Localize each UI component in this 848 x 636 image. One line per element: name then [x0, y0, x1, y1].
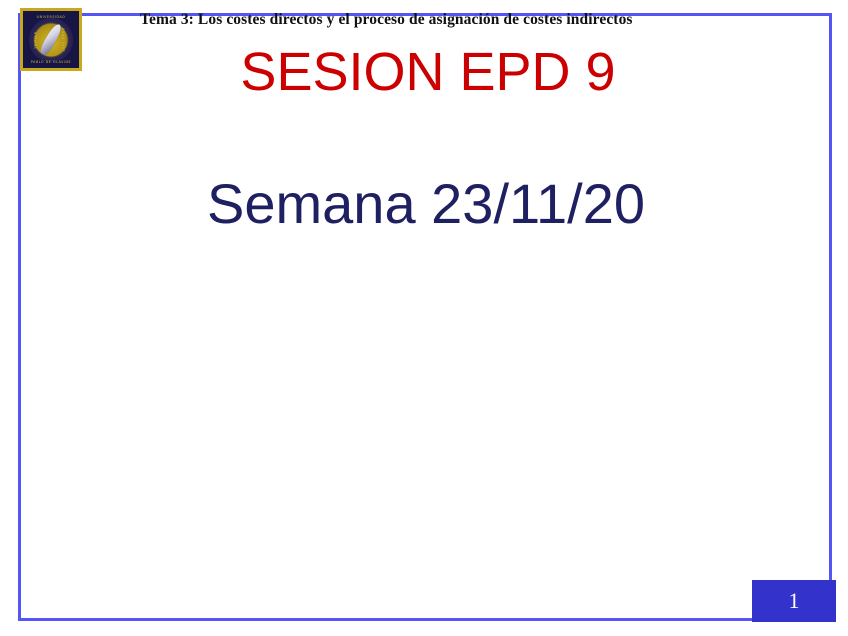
- presentation-slide: UNIVERSIDAD PABLO DE OLAVIDE SEVILLA ANN…: [0, 0, 848, 636]
- slide-title: SESION EPD 9: [0, 44, 848, 101]
- slide-border-frame: [18, 13, 832, 621]
- seal-text-right: ANNO 1997: [61, 28, 65, 52]
- slide-header-topic: Tema 3: Los costes directos y el proceso…: [140, 11, 740, 28]
- seal-text-bottom: PABLO DE OLAVIDE: [31, 60, 71, 64]
- page-number-badge: 1: [752, 580, 836, 622]
- seal-text-top: UNIVERSIDAD: [37, 15, 66, 19]
- seal-text-left: SEVILLA: [34, 31, 38, 48]
- slide-subtitle: Semana 23/11/20: [0, 175, 848, 234]
